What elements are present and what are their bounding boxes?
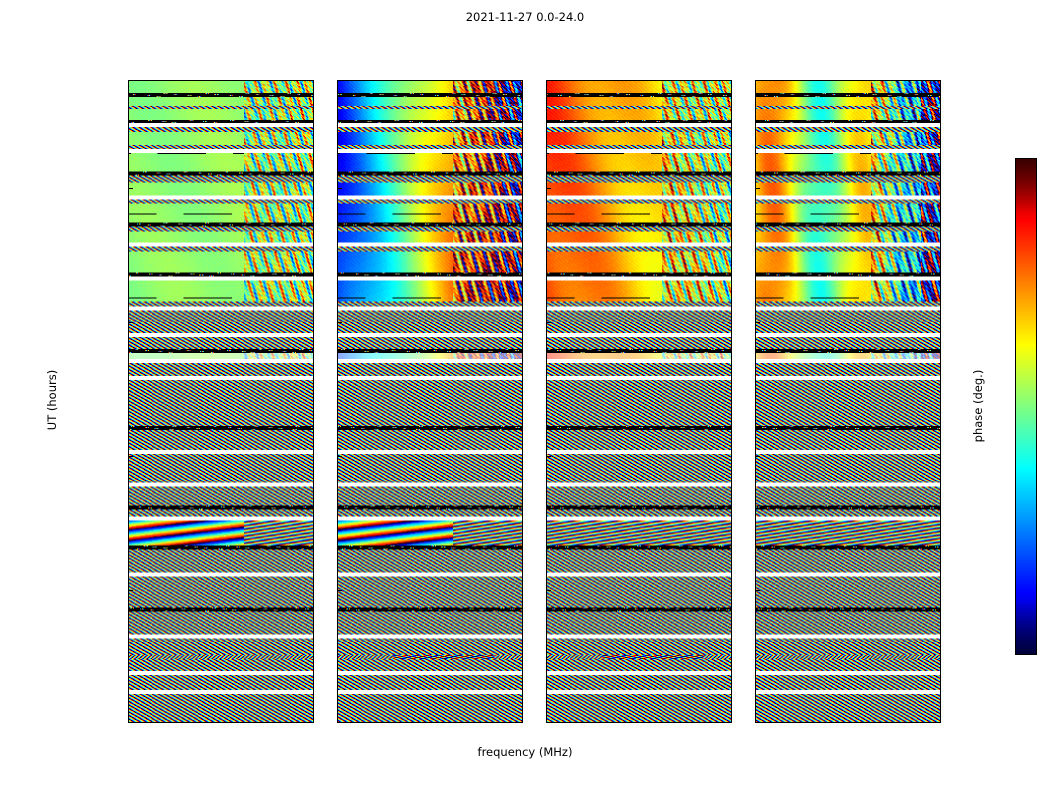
heatmap-yx	[756, 81, 940, 722]
y-tick-mark	[547, 188, 551, 189]
colorbar-tick-mark	[1015, 615, 1016, 616]
y-tick-mark	[756, 590, 760, 591]
y-tick-mark	[129, 322, 133, 323]
panel-yy[interactable]: YY, V0*V2=EA28*EA12 05101520320335350365…	[337, 80, 523, 723]
x-tick-mark	[764, 722, 765, 723]
x-tick-mark	[431, 722, 432, 723]
x-tick-mark	[640, 722, 641, 723]
panel-yx[interactable]: YX, V0*V2=EA28*EA12 05101520320335350365…	[755, 80, 941, 723]
x-tick-mark	[137, 722, 138, 723]
colorbar-label: phase (deg.)	[971, 370, 985, 443]
panel-xy[interactable]: XY, V0*V2=EA28*EA12 05101520320335350365…	[546, 80, 732, 723]
panel-xx[interactable]: XX, V0*V2=EA28*EA12 05101520320335350365…	[128, 80, 314, 723]
x-tick-mark	[725, 722, 726, 723]
y-tick-mark	[338, 322, 342, 323]
y-tick-mark	[756, 456, 760, 457]
x-tick-mark	[346, 722, 347, 723]
y-tick-mark	[756, 188, 760, 189]
x-tick-mark	[307, 722, 308, 723]
y-tick-mark	[547, 322, 551, 323]
x-tick-mark	[934, 722, 935, 723]
x-tick-mark	[180, 722, 181, 723]
heatmap-xx	[129, 81, 313, 722]
y-tick-mark	[129, 188, 133, 189]
x-tick-mark	[516, 722, 517, 723]
y-tick-mark	[338, 590, 342, 591]
colorbar-tick-mark	[1015, 408, 1016, 409]
figure-suptitle: 2021-11-27 0.0-24.0	[0, 10, 1050, 24]
colorbar-tick-mark	[1015, 269, 1016, 270]
y-tick-mark	[756, 322, 760, 323]
x-tick-mark	[264, 722, 265, 723]
x-tick-mark	[807, 722, 808, 723]
x-tick-mark	[473, 722, 474, 723]
x-tick-mark	[555, 722, 556, 723]
y-tick-mark	[547, 590, 551, 591]
y-tick-mark	[338, 456, 342, 457]
y-tick-mark	[338, 188, 342, 189]
x-tick-mark	[598, 722, 599, 723]
y-tick-mark	[129, 456, 133, 457]
x-tick-mark	[222, 722, 223, 723]
colorbar-tick-mark	[1015, 546, 1016, 547]
heatmap-xy	[547, 81, 731, 722]
x-tick-mark	[682, 722, 683, 723]
x-tick-mark	[891, 722, 892, 723]
x-tick-mark	[849, 722, 850, 723]
colorbar-tick-mark	[1015, 477, 1016, 478]
x-axis-label: frequency (MHz)	[0, 745, 1050, 759]
colorbar-tick-mark	[1015, 338, 1016, 339]
colorbar-tick-mark	[1015, 200, 1016, 201]
colorbar[interactable]: 150100500−50−100−150	[1015, 158, 1037, 655]
y-axis-label: UT (hours)	[45, 370, 59, 430]
y-tick-mark	[547, 456, 551, 457]
x-tick-mark	[389, 722, 390, 723]
heatmap-yy	[338, 81, 522, 722]
y-tick-mark	[129, 590, 133, 591]
